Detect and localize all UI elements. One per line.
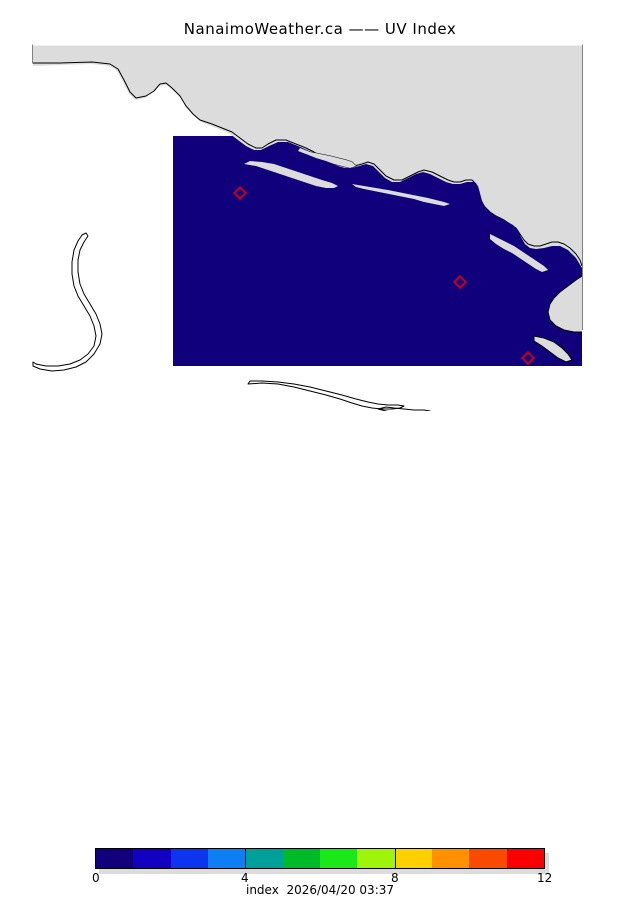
colorbar[interactable] (95, 848, 545, 869)
colorbar-caption: index 2026/04/20 03:37 (0, 883, 640, 897)
uv-index-map-page: NanaimoWeather.ca —— UV Index (0, 0, 640, 480)
colorbar-tick-4 (245, 848, 246, 869)
colorbar-segment-1 (133, 849, 170, 868)
colorbar-segment-8 (395, 849, 432, 868)
colorbar-segment-4 (245, 849, 282, 868)
colorbar-segment-3 (208, 849, 245, 868)
colorbar-tick-8 (395, 848, 396, 869)
map-graphic (0, 36, 640, 411)
colorbar-segment-5 (283, 849, 320, 868)
colorbar-segment-11 (507, 849, 544, 868)
colorbar-panel: 0 4 8 12 index 2026/04/20 03:37 (0, 420, 640, 480)
colorbar-segment-9 (432, 849, 469, 868)
colorbar-segment-10 (469, 849, 506, 868)
map-panel (0, 36, 640, 411)
colorbar-segment-6 (320, 849, 357, 868)
colorbar-segment-7 (357, 849, 394, 868)
colorbar-segment-2 (171, 849, 208, 868)
colorbar-segment-0 (96, 849, 133, 868)
